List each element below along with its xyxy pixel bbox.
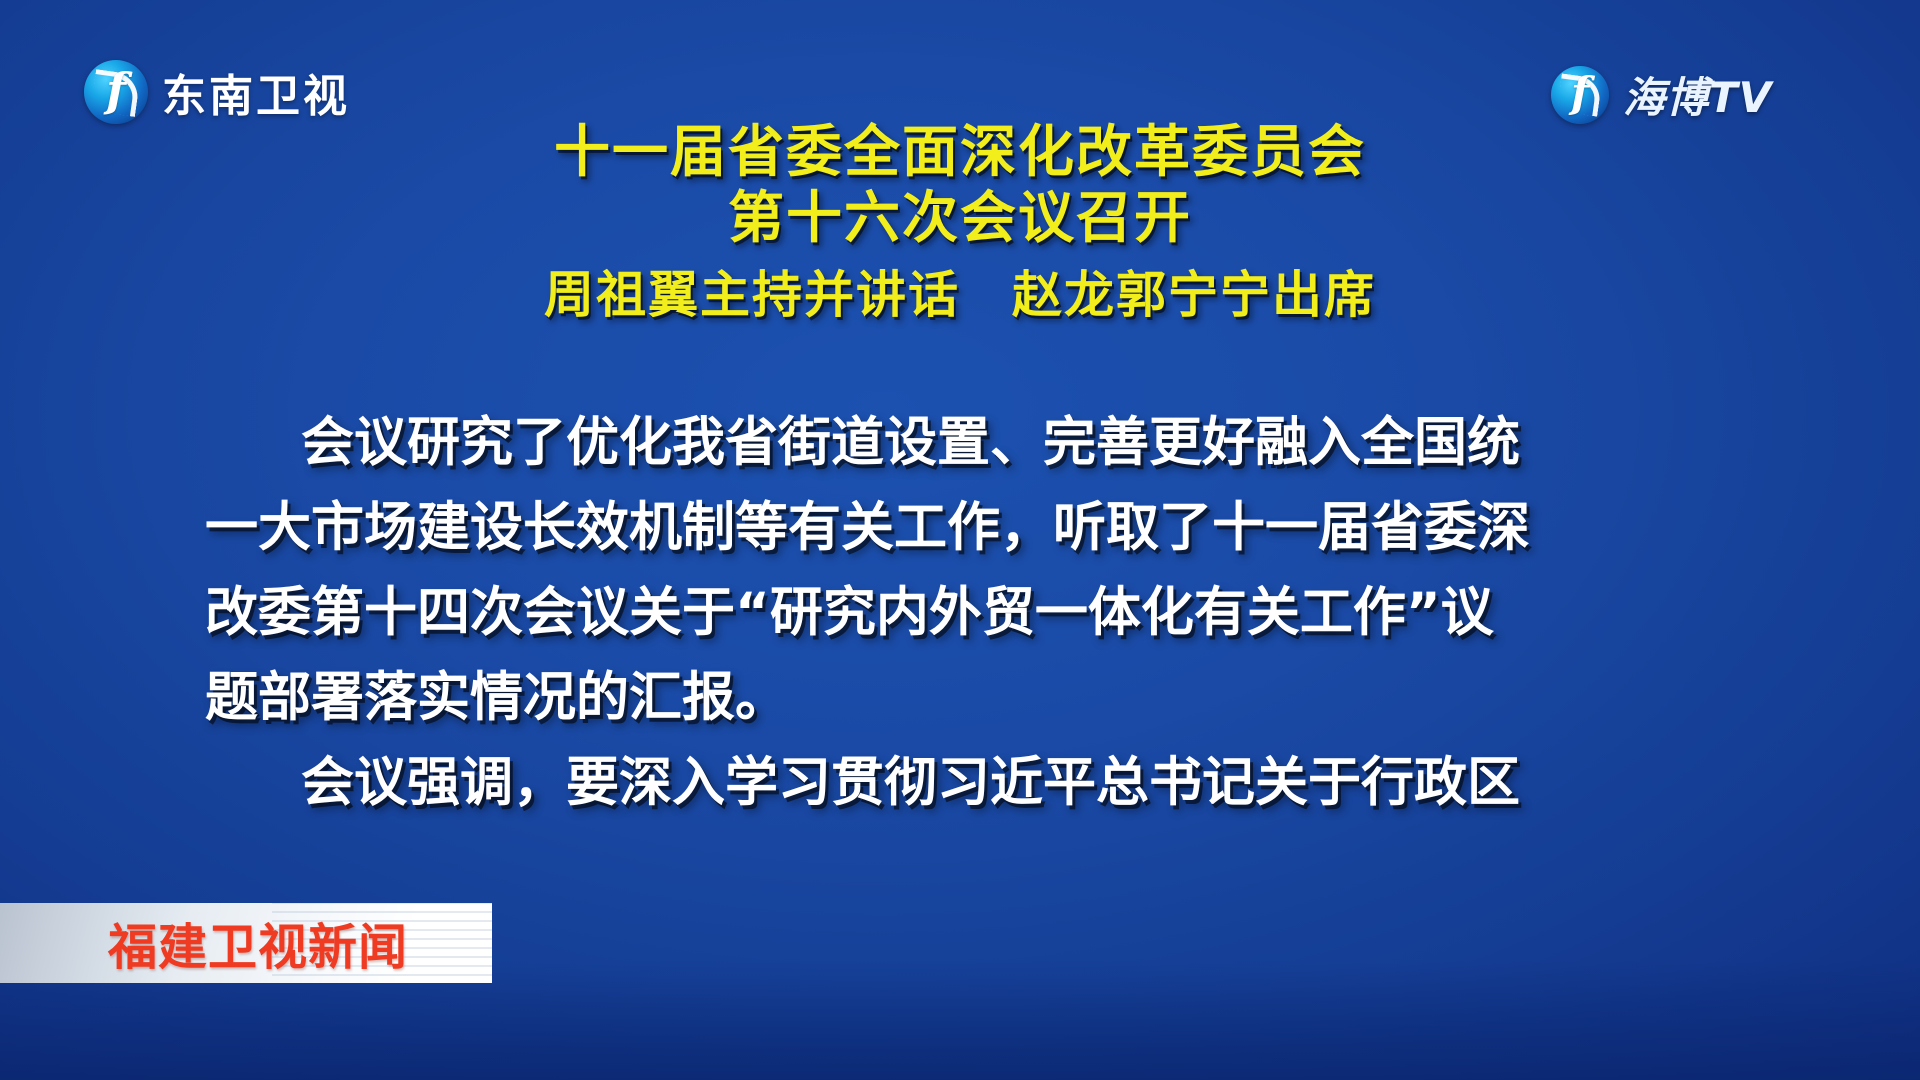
news-body-text: 会议研究了优化我省街道设置、完善更好融入全国统 一大市场建设长效机制等有关工作，… — [205, 400, 1705, 825]
body-line: 改委第十四次会议关于“研究内外贸一体化有关工作”议 — [205, 570, 1705, 655]
headline-line-2: 第十六次会议召开 — [0, 186, 1920, 252]
headline-subtitle: 周祖翼主持并讲话 赵龙郭宁宁出席 — [0, 266, 1920, 325]
channel-logo-left-label: 东南卫视 — [162, 60, 350, 124]
channel-logo-left: f 东南卫视 — [84, 60, 350, 124]
fujian-f-logo-icon: f — [1551, 66, 1609, 124]
headline-line-1: 十一届省委全面深化改革委员会 — [0, 120, 1920, 186]
logo-f-glyph-icon: f — [84, 60, 148, 124]
body-line: 会议研究了优化我省街道设置、完善更好融入全国统 — [205, 400, 1705, 485]
fujian-f-logo-icon: f — [84, 60, 148, 124]
body-line: 一大市场建设长效机制等有关工作，听取了十一届省委深 — [205, 485, 1705, 570]
news-program-banner-label: 福建卫视新闻 — [108, 908, 408, 979]
channel-logo-right-label: 海博TV — [1623, 64, 1772, 125]
headline-block: 十一届省委全面深化改革委员会 第十六次会议召开 周祖翼主持并讲话 赵龙郭宁宁出席 — [0, 120, 1920, 325]
body-line: 题部署落实情况的汇报。 — [205, 655, 1705, 740]
logo-f-glyph-icon: f — [1551, 66, 1609, 124]
news-program-banner: 福建卫视新闻 — [0, 903, 492, 983]
body-line: 会议强调，要深入学习贯彻习近平总书记关于行政区 — [205, 740, 1705, 825]
channel-logo-right: f 海博TV — [1551, 64, 1772, 125]
